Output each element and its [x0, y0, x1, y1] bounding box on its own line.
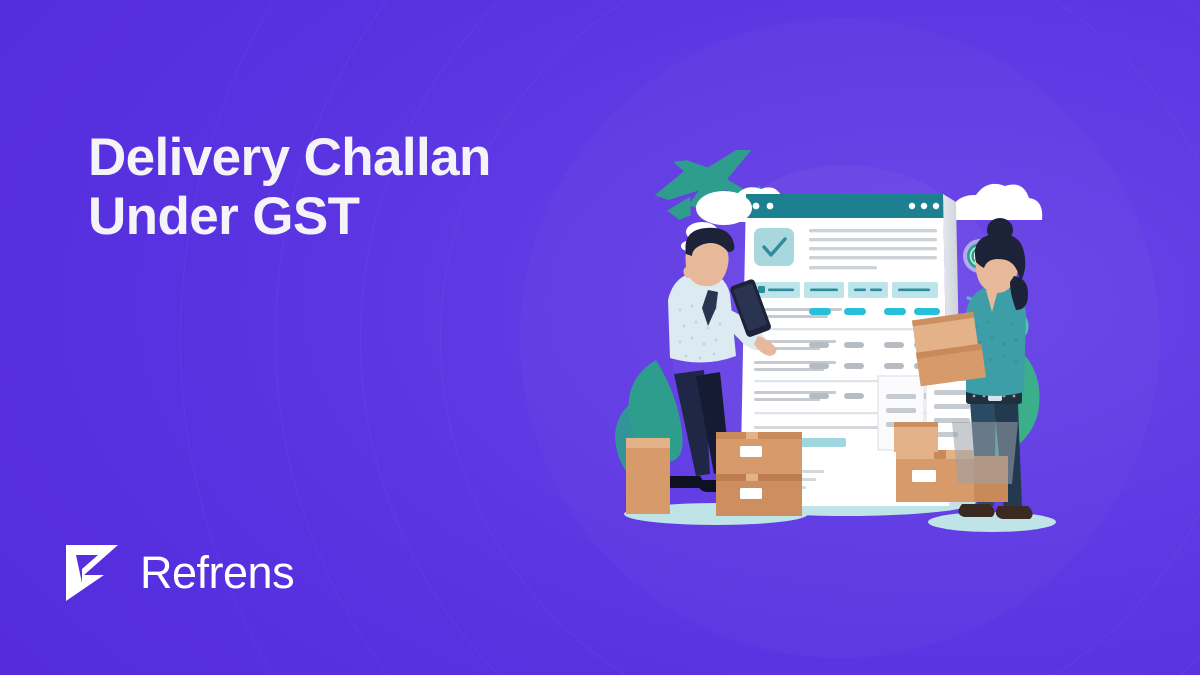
bin: [952, 422, 1018, 484]
titlebar-dots-right: [909, 203, 939, 209]
cardboard-box-small-far-left: [894, 422, 938, 452]
shoe-front: [996, 506, 1033, 519]
page-title: Delivery Challan Under GST: [88, 128, 491, 247]
refrens-wordmark: Refrens: [140, 547, 294, 599]
refrens-r-arrow-mark: [62, 543, 126, 603]
document-summary-line: [754, 426, 894, 429]
approved-check-box: [754, 228, 794, 266]
refrens-logo[interactable]: Refrens: [62, 543, 294, 603]
cloud-right: [948, 184, 1042, 220]
banner-canvas: Delivery Challan Under GST Refrens: [0, 0, 1200, 675]
hair-bun: [987, 218, 1013, 242]
shoe-back: [958, 504, 994, 517]
delivery-challan-illustration: [596, 150, 1076, 570]
